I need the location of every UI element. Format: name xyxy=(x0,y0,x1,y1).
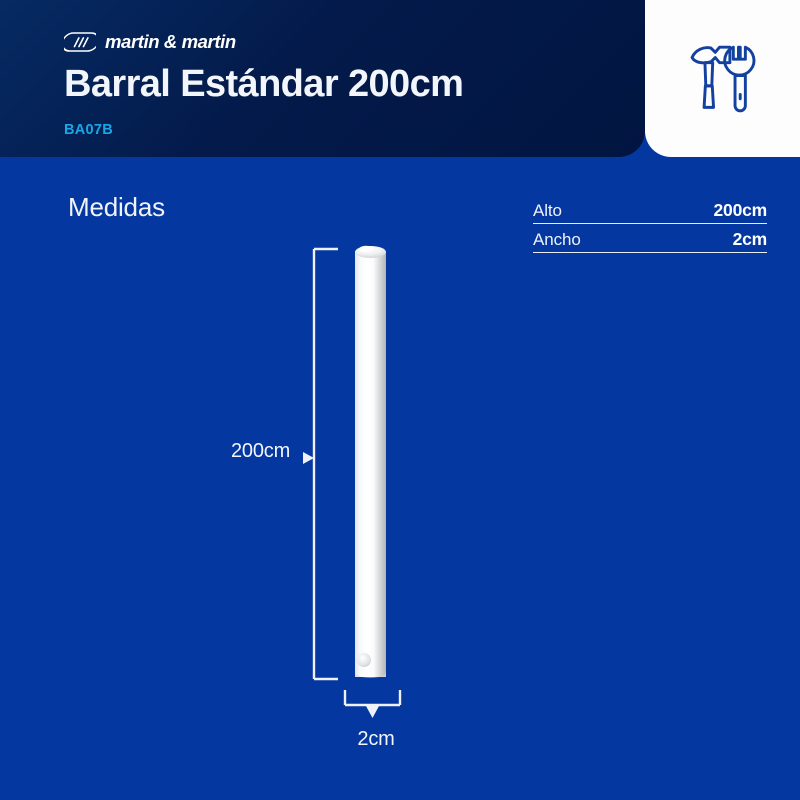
cylindrical-bar-icon xyxy=(355,246,386,678)
product-sku: BA07B xyxy=(64,122,113,138)
page-title: Barral Estándar 200cm xyxy=(64,63,463,106)
spec-label-alto: Alto xyxy=(533,201,562,221)
spec-value-ancho: 2cm xyxy=(733,229,767,250)
martin-m-logo-icon xyxy=(64,30,96,54)
section-title: Medidas xyxy=(68,192,165,223)
width-dimension-arrow-icon xyxy=(366,706,379,718)
spec-label-ancho: Ancho xyxy=(533,230,581,250)
width-dimension-label: 2cm xyxy=(348,728,404,751)
tools-icon-panel xyxy=(645,0,800,157)
width-dimension-line xyxy=(345,690,400,705)
spec-table: Alto 200cm Ancho 2cm xyxy=(533,198,767,256)
height-dimension-line xyxy=(314,249,338,679)
table-row: Ancho 2cm xyxy=(533,227,767,253)
spec-value-alto: 200cm xyxy=(714,200,768,221)
table-row: Alto 200cm xyxy=(533,198,767,224)
height-dimension-label: 200cm xyxy=(231,440,290,463)
brand-logo: martin & martin xyxy=(64,30,236,54)
header-bar: martin & martin Barral Estándar 200cm BA… xyxy=(0,0,645,157)
height-dimension-arrow-icon xyxy=(303,452,314,464)
brand-name: martin & martin xyxy=(105,31,236,53)
hammer-and-wrench-icon xyxy=(680,36,766,122)
